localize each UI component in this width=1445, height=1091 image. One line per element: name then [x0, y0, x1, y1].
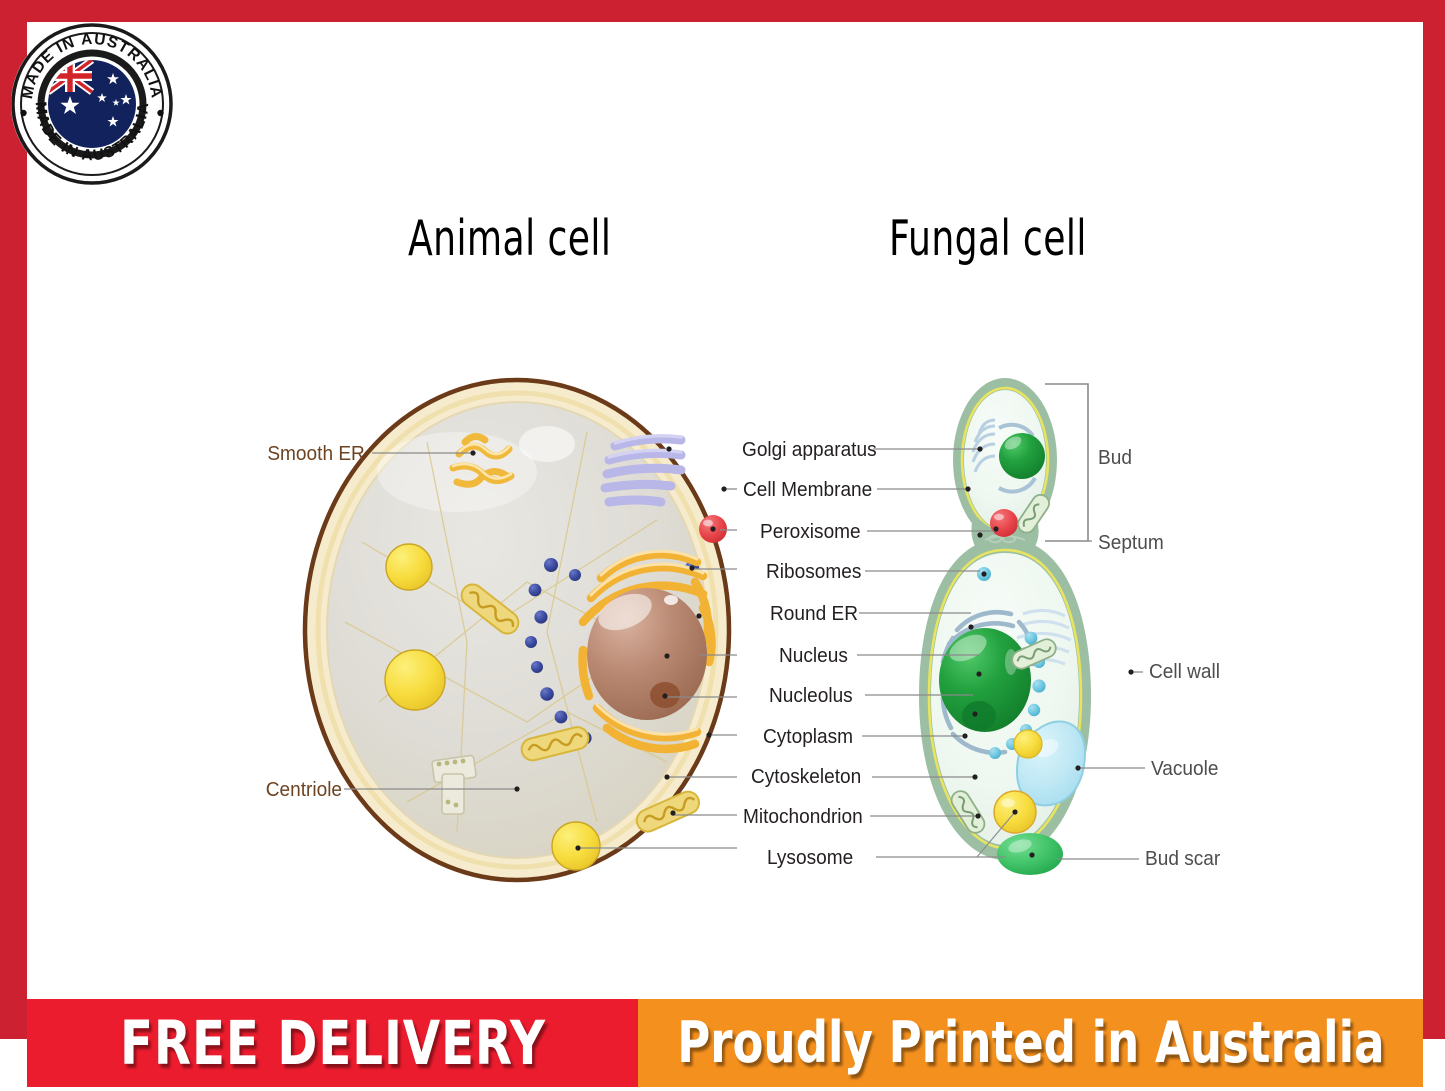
label-mitochondrion: Mitochondrion	[743, 805, 863, 829]
label-cell-wall: Cell wall	[1149, 660, 1220, 684]
label-golgi-apparatus: Golgi apparatus	[742, 438, 877, 462]
label-bud: Bud	[1098, 446, 1132, 470]
label-lysosome: Lysosome	[767, 846, 853, 870]
made-in-australia-badge: MADE IN AUSTRALIA MADE IN AUSTRALIA	[9, 21, 175, 187]
lysosome-organelle	[385, 650, 445, 710]
animal-cell-illustration	[305, 380, 729, 880]
label-ribosomes: Ribosomes	[766, 560, 861, 584]
label-peroxisome: Peroxisome	[760, 520, 861, 544]
label-cytoplasm: Cytoplasm	[763, 725, 853, 749]
fungal-nucleolus	[962, 701, 996, 731]
label-nucleus: Nucleus	[779, 644, 848, 668]
label-centriole: Centriole	[266, 778, 342, 802]
fungal-small-lysosome	[1014, 730, 1042, 758]
label-smooth-er: Smooth ER	[267, 442, 364, 466]
lysosome-organelle	[386, 544, 432, 590]
label-cytoskeleton: Cytoskeleton	[751, 765, 861, 789]
printed-in-australia-text: Proudly Printed in Australia	[677, 1010, 1384, 1076]
lysosome-organelle	[552, 822, 600, 870]
cell-diagram-area: Animal cell Fungal cell	[27, 22, 1423, 995]
label-septum: Septum	[1098, 531, 1164, 555]
frame-right-bar	[1423, 0, 1445, 1039]
label-round-er: Round ER	[770, 602, 858, 626]
label-vacuole: Vacuole	[1151, 757, 1218, 781]
frame-top-bar	[0, 0, 1445, 22]
fungal-cell-illustration	[919, 378, 1091, 875]
label-nucleolus: Nucleolus	[769, 684, 853, 708]
bud-peroxisome	[990, 509, 1018, 537]
printed-in-australia-banner: Proudly Printed in Australia	[638, 999, 1423, 1087]
label-bud-scar: Bud scar	[1145, 847, 1220, 871]
free-delivery-banner: FREE DELIVERY	[27, 999, 638, 1087]
label-cell-membrane: Cell Membrane	[743, 478, 872, 502]
poster-canvas: MADE IN AUSTRALIA MADE IN AUSTRALIA Anim…	[0, 0, 1445, 1091]
free-delivery-text: FREE DELIVERY	[120, 1008, 546, 1079]
